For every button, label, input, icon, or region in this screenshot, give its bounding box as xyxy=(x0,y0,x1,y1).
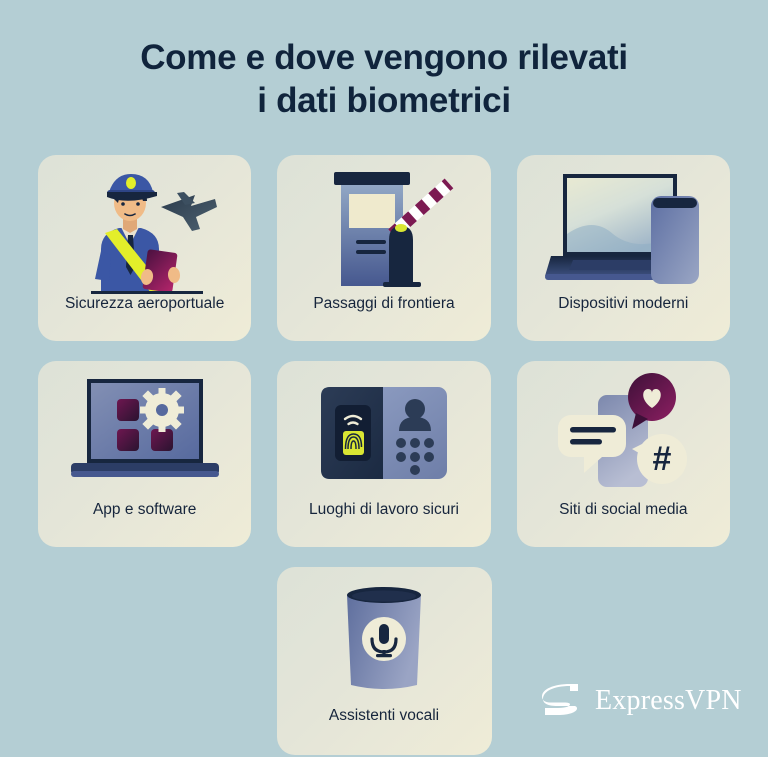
svg-text:#: # xyxy=(653,440,672,478)
smart-speaker-microphone-icon xyxy=(277,567,492,707)
card-social-media[interactable]: # Siti di social media xyxy=(517,361,730,547)
laptop-apps-gear-icon xyxy=(38,361,251,501)
infographic-canvas: Come e dove vengono rilevati i dati biom… xyxy=(0,0,768,757)
app-tile xyxy=(117,429,139,451)
card-voice-assistants[interactable]: Assistenti vocali xyxy=(277,567,492,755)
airplane-shape xyxy=(161,192,217,231)
card-row-1: Sicurezza aeroportuale xyxy=(38,155,730,341)
card-label: Siti di social media xyxy=(517,501,730,519)
card-row-2: App e software xyxy=(38,361,730,547)
airport-security-officer-icon xyxy=(38,155,251,295)
title-line-1: Come e dove vengono rilevati xyxy=(0,36,768,79)
page-title: Come e dove vengono rilevati i dati biom… xyxy=(0,36,768,122)
card-secure-workplaces[interactable]: Luoghi di lavoro sicuri xyxy=(277,361,490,547)
card-label: Dispositivi moderni xyxy=(517,295,730,313)
laptop-and-smartphone-icon xyxy=(517,155,730,295)
card-border-crossing[interactable]: Passaggi di frontiera xyxy=(277,155,490,341)
card-label: App e software xyxy=(38,501,251,519)
heart-badge-icon xyxy=(628,373,676,429)
expressvpn-logo: ExpressVPN xyxy=(540,682,742,720)
card-label: Luoghi di lavoro sicuri xyxy=(277,501,490,519)
gear-icon xyxy=(140,388,184,432)
card-row-3: Assistenti vocali xyxy=(38,567,730,755)
card-modern-devices[interactable]: Dispositivi moderni xyxy=(517,155,730,341)
card-label: Passaggi di frontiera xyxy=(277,295,490,313)
card-apps-software[interactable]: App e software xyxy=(38,361,251,547)
card-label: Assistenti vocali xyxy=(277,707,492,725)
app-tile xyxy=(117,399,139,421)
social-chat-bubbles-icon: # xyxy=(517,361,730,501)
expressvpn-e-mark-icon xyxy=(540,682,582,720)
card-airport-security[interactable]: Sicurezza aeroportuale xyxy=(38,155,251,341)
card-label: Sicurezza aeroportuale xyxy=(38,295,251,313)
fingerprint-access-panel-icon xyxy=(277,361,490,501)
title-line-2: i dati biometrici xyxy=(0,79,768,122)
border-checkpoint-booth-icon xyxy=(277,155,490,295)
app-tile xyxy=(151,429,173,451)
brand-name: ExpressVPN xyxy=(595,685,742,717)
